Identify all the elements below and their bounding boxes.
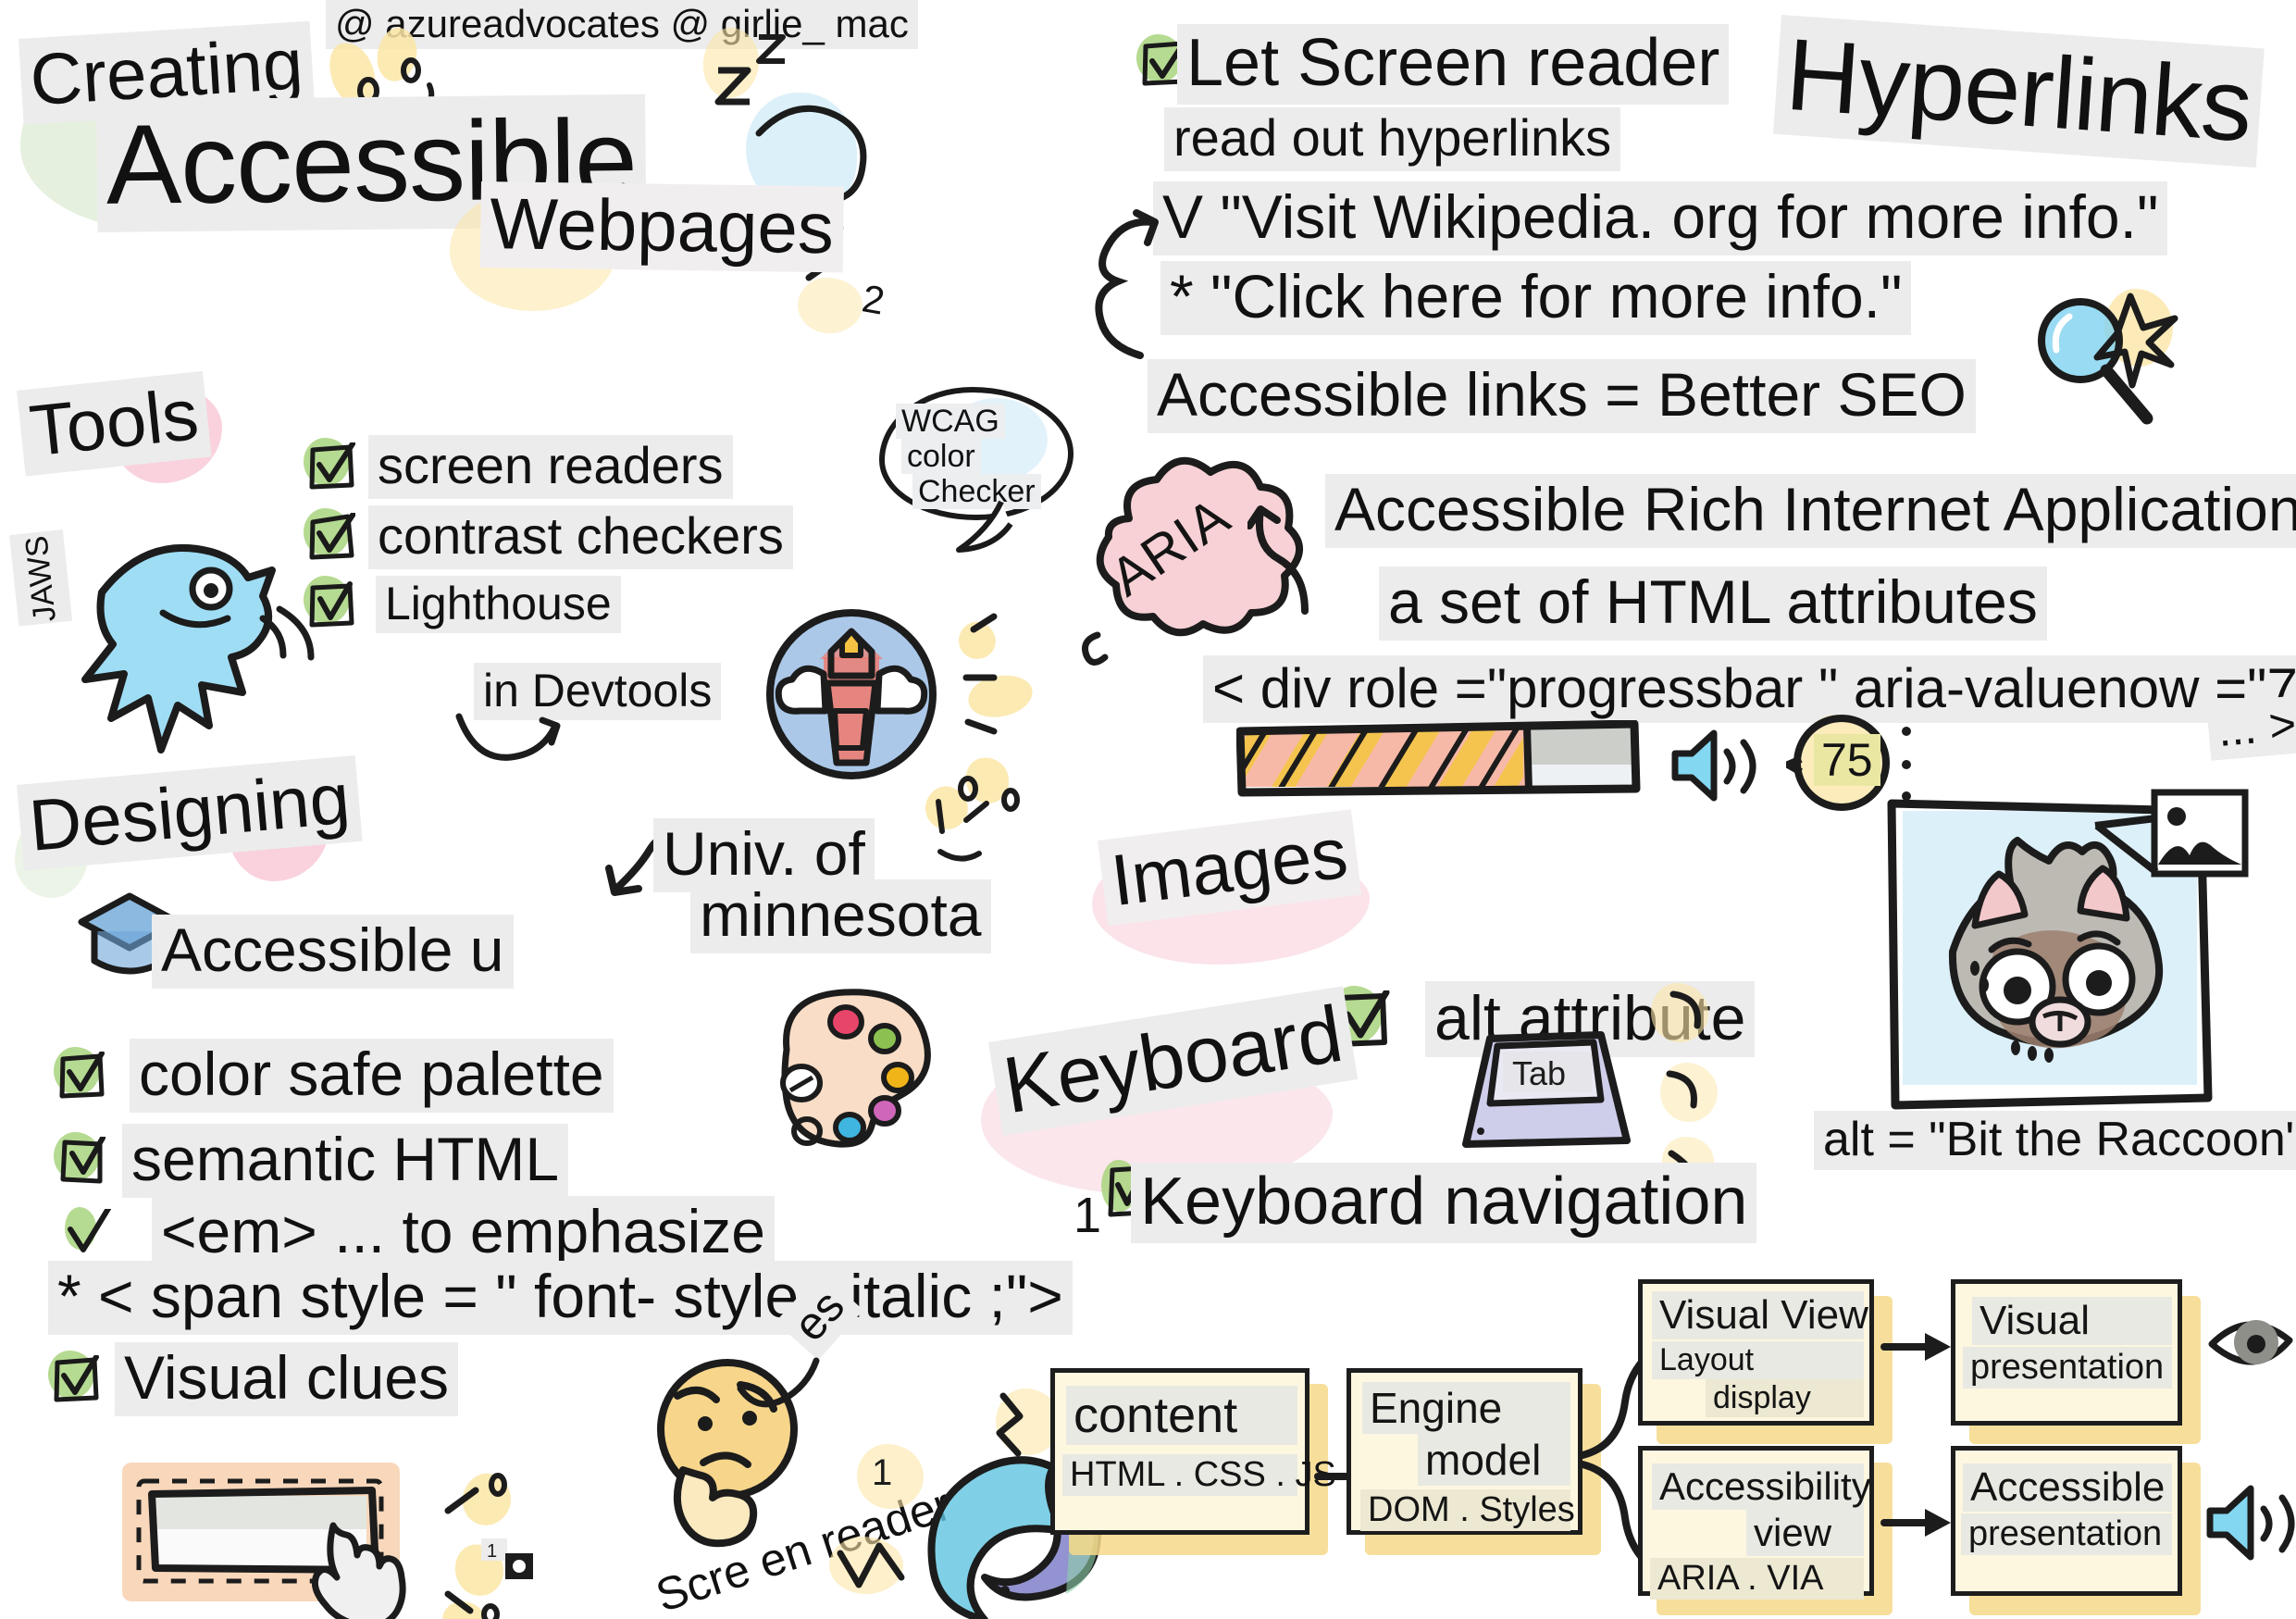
- doodle-number-one: 1: [872, 1452, 892, 1493]
- magnifier-icon: [2029, 289, 2195, 442]
- wcag-line-2: color: [901, 439, 981, 474]
- checkbox-checked-icon[interactable]: [307, 513, 355, 561]
- devtools-arrow: [450, 711, 598, 799]
- hyperlinks-good-example-text: V "Visit Wikipedia. org for more info.": [1153, 181, 2167, 255]
- checkbox-checked-icon[interactable]: [52, 1355, 100, 1403]
- pipeline-node-accessibility-view-l2: view: [1746, 1510, 1864, 1556]
- aria-code-tail: ... >: [2206, 695, 2296, 761]
- pipeline-node-engine-subtitle: DOM . Styles: [1360, 1489, 1570, 1531]
- pipeline-node-visual-view-sub-l2: display: [1706, 1379, 1864, 1417]
- images-alt-value: alt = "Bit the Raccoon": [1814, 1111, 2296, 1170]
- pipeline-node-engine-title-l2: model: [1418, 1434, 1570, 1486]
- images-alt-value-text: alt = "Bit the Raccoon": [1814, 1111, 2296, 1170]
- pipeline-node-accessible-presentation-l1: Accessible: [1963, 1463, 2172, 1512]
- doodle-dashes: [953, 611, 1064, 764]
- aria-progress-value-text: 75: [1814, 734, 1880, 786]
- checkmark-icon[interactable]: [65, 1209, 113, 1257]
- aria-expansion-text: Accessible Rich Internet Applications: [1325, 474, 2296, 548]
- progressbar-illustration: [1236, 720, 1671, 808]
- tools-item-contrast-checkers[interactable]: contrast checkers: [307, 505, 793, 569]
- pipeline-node-visual-presentation-l2: presentation: [1963, 1347, 2172, 1389]
- svg-text:1: 1: [487, 1541, 497, 1562]
- doodle-confetti-marks: [916, 763, 1046, 888]
- pipeline-node-accessibility-view[interactable]: Accessibility view ARIA . VIA: [1638, 1446, 1874, 1596]
- designing-anti-pattern-text: * < span style = " font- style : italic …: [48, 1261, 1073, 1335]
- hyperlinks-rule-line2-text: read out hyperlinks: [1164, 107, 1620, 171]
- hyperlinks-heading-text: Hyperlinks: [1773, 15, 2265, 168]
- doodle-yellow-note-3: [798, 278, 863, 333]
- title-webpages-text: Webpages: [480, 181, 844, 273]
- pipeline-node-accessibility-view-subtitle: ARIA . VIA: [1650, 1558, 1864, 1600]
- course-source-line2: minnesota: [690, 879, 991, 953]
- designing-course: Accessible u: [152, 915, 514, 989]
- shark-icon: [46, 500, 324, 791]
- designing-course-text: Accessible u: [152, 915, 514, 989]
- tools-item-screen-readers[interactable]: screen readers: [307, 435, 733, 499]
- aria-definition: a set of HTML attributes: [1379, 567, 2047, 641]
- aria-definition-text: a set of HTML attributes: [1379, 567, 2047, 641]
- wcag-bubble-tail: [951, 498, 1025, 560]
- hyperlinks-seo-note: Accessible links = Better SEO: [1148, 359, 1976, 433]
- eye-icon: [2204, 1301, 2296, 1389]
- designing-item-visual-clues-label: Visual clues: [115, 1342, 458, 1416]
- designing-item-color-safe-palette-label: color safe palette: [130, 1039, 614, 1113]
- pipeline-node-engine-title-l1: Engine: [1362, 1382, 1570, 1434]
- hyperlinks-seo-note-text: Accessible links = Better SEO: [1148, 359, 1976, 433]
- raccoon-photo-illustration: [1879, 787, 2267, 1162]
- designing-item-color-safe-palette[interactable]: color safe palette: [57, 1039, 614, 1113]
- palette-icon: [750, 981, 953, 1152]
- aria-code-line-text: < div role ="progressbar " aria-valuenow…: [1203, 655, 2296, 723]
- designing-item-semantic-html-label: semantic HTML: [122, 1124, 568, 1198]
- checkbox-checked-icon[interactable]: [57, 1052, 105, 1100]
- speaker-icon: [1666, 724, 1777, 812]
- hyperlinks-rule-line1: Let Screen reader: [1177, 24, 1729, 105]
- designing-item-semantic-html[interactable]: semantic HTML: [57, 1124, 568, 1198]
- doodle-pipeline-marks: 1: [833, 1379, 1055, 1615]
- tab-key-label: Tab: [1512, 1054, 1566, 1092]
- course-source-line2-text: minnesota: [690, 879, 991, 953]
- aria-expansion: Accessible Rich Internet Applications: [1325, 474, 2296, 548]
- tools-item-screen-readers-label: screen readers: [368, 435, 733, 499]
- checkbox-checked-icon[interactable]: [57, 1137, 105, 1185]
- tools-item-lighthouse[interactable]: Lighthouse: [307, 576, 621, 633]
- doodle-thought-curl: [731, 1344, 833, 1432]
- pipeline-node-visual-view-title: Visual View: [1652, 1291, 1864, 1339]
- pipeline-node-engine[interactable]: Engine model DOM . Styles: [1347, 1368, 1582, 1535]
- sketchnote-canvas: @ azureadvocates @ girlie_ mac 2: [0, 0, 2296, 1619]
- designing-item-em-emphasize-label: <em> ... to emphasize: [152, 1196, 775, 1270]
- checkbox-checked-icon[interactable]: [307, 442, 355, 491]
- wcag-bubble-lines: WCAG color Checker: [896, 404, 1041, 509]
- hyperlinks-good-example: V "Visit Wikipedia. org for more info.": [1153, 181, 2167, 255]
- pipeline-node-accessibility-view-l1: Accessibility: [1652, 1463, 1864, 1510]
- aria-code-line: < div role ="progressbar " aria-valuenow…: [1203, 655, 2296, 723]
- tools-item-lighthouse-label: Lighthouse: [376, 576, 621, 633]
- aria-code-tail-text: ... >: [2206, 695, 2296, 761]
- checkbox-checked-icon[interactable]: [307, 580, 355, 629]
- tools-item-contrast-checkers-label: contrast checkers: [368, 505, 793, 569]
- hyperlinks-rule-line2: read out hyperlinks: [1164, 107, 1620, 171]
- pipeline-node-visual-view-sub-l1: Layout: [1652, 1341, 1864, 1379]
- designing-item-visual-clues[interactable]: Visual clues: [52, 1342, 458, 1416]
- keyboard-nav-item[interactable]: Keyboard navigation: [1131, 1163, 1756, 1243]
- wcag-line-1: WCAG: [896, 404, 1005, 439]
- hyperlinks-bad-example-text: * "Click here for more info.": [1160, 261, 1911, 335]
- pipeline-node-visual-presentation-l1: Visual: [1972, 1297, 2172, 1345]
- hyperlinks-rule-line1-text: Let Screen reader: [1177, 24, 1729, 105]
- pipeline-node-visual-presentation[interactable]: Visual presentation: [1951, 1279, 2182, 1426]
- pipeline-node-visual-view[interactable]: Visual View Layout display: [1638, 1279, 1874, 1426]
- hyperlinks-bad-example: * "Click here for more info.": [1160, 261, 1911, 335]
- hyperlinks-curl-arrow: [1064, 204, 1175, 384]
- pipeline-node-content-subtitle: HTML . CSS . JS: [1062, 1454, 1297, 1496]
- cursor-hand-icon: [305, 1509, 426, 1619]
- pipeline-node-content-title: content: [1066, 1386, 1297, 1445]
- speaker-icon: [2201, 1477, 2296, 1575]
- pipeline-node-content[interactable]: content HTML . CSS . JS: [1050, 1368, 1309, 1535]
- doodle-click-marks: 1: [433, 1463, 553, 1619]
- tab-key-icon: Tab: [1453, 1011, 1638, 1164]
- pipeline-node-accessible-presentation-l2: presentation: [1961, 1513, 2172, 1555]
- designing-item-em-emphasize[interactable]: <em> ... to emphasize: [65, 1196, 775, 1270]
- designing-anti-pattern: * < span style = " font- style : italic …: [48, 1261, 1073, 1335]
- aria-progress-value: 75: [1814, 733, 1880, 787]
- keyboard-nav-item-label: Keyboard navigation: [1131, 1163, 1756, 1243]
- hyperlinks-heading: Hyperlinks: [1773, 15, 2265, 168]
- title-webpages: Webpages: [480, 181, 844, 273]
- pipeline-node-accessible-presentation[interactable]: Accessible presentation: [1951, 1446, 2182, 1596]
- keyboard-nav-number: 1: [1074, 1187, 1101, 1244]
